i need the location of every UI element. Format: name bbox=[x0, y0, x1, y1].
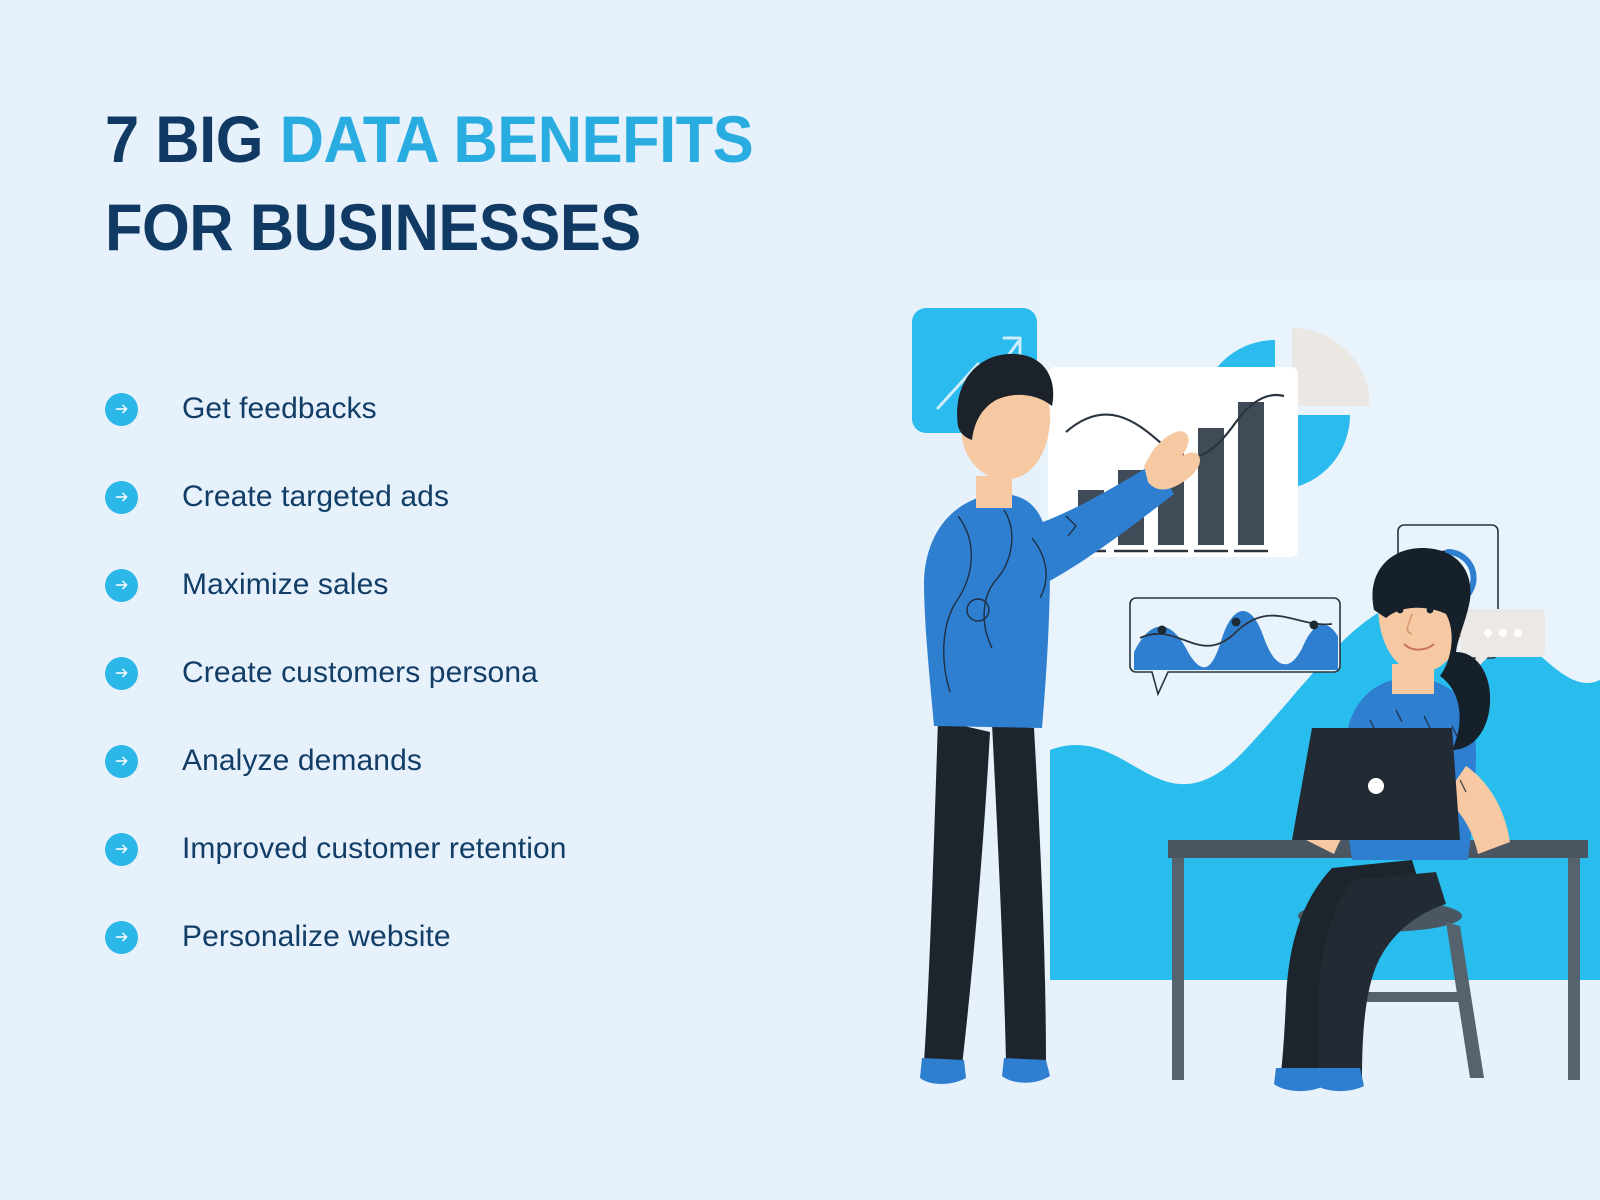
list-item[interactable]: Personalize website bbox=[105, 913, 965, 961]
list-item-label: Personalize website bbox=[182, 920, 451, 954]
list-item[interactable]: Create customers persona bbox=[105, 649, 965, 697]
list-item-label: Get feedbacks bbox=[182, 392, 377, 426]
list-item[interactable]: Get feedbacks bbox=[105, 385, 965, 433]
arrow-right-icon bbox=[105, 481, 138, 514]
typing-dots-icon bbox=[1484, 629, 1522, 637]
man-neck bbox=[976, 476, 1012, 508]
page-title: 7 BIG DATA BENEFITS FOR BUSINESSES bbox=[105, 95, 868, 271]
arrow-right-icon bbox=[105, 569, 138, 602]
list-item[interactable]: Create targeted ads bbox=[105, 473, 965, 521]
list-item-label: Maximize sales bbox=[182, 568, 388, 602]
man-right-leg bbox=[992, 724, 1046, 1064]
laptop-logo bbox=[1368, 778, 1384, 794]
benefits-list: Get feedbacks Create targeted ads Maximi… bbox=[105, 385, 965, 961]
list-item-label: Create customers persona bbox=[182, 656, 538, 690]
man-right-shoe bbox=[1002, 1058, 1050, 1083]
title-part-dark: 7 BIG bbox=[105, 102, 280, 176]
infographic-canvas: 7 BIG DATA BENEFITS FOR BUSINESSES Get f… bbox=[0, 0, 1600, 1200]
list-item[interactable]: Analyze demands bbox=[105, 737, 965, 785]
title-part-accent: DATA BENEFITS bbox=[280, 102, 754, 176]
list-item[interactable]: Maximize sales bbox=[105, 561, 965, 609]
desk-leg-left bbox=[1172, 858, 1184, 1080]
title-line-2: FOR BUSINESSES bbox=[105, 183, 868, 271]
laptop bbox=[1292, 728, 1460, 840]
list-item-label: Improved customer retention bbox=[182, 832, 567, 866]
arrow-right-icon bbox=[105, 393, 138, 426]
list-item-label: Analyze demands bbox=[182, 744, 422, 778]
business-analytics-illustration bbox=[900, 280, 1600, 1100]
list-item-label: Create targeted ads bbox=[182, 480, 449, 514]
arrow-right-icon bbox=[105, 833, 138, 866]
woman-right-shoe bbox=[1314, 1068, 1364, 1091]
arrow-right-icon bbox=[105, 657, 138, 690]
headline-block: 7 BIG DATA BENEFITS FOR BUSINESSES bbox=[105, 95, 925, 271]
arrow-right-icon bbox=[105, 921, 138, 954]
desk-leg-right bbox=[1568, 858, 1580, 1080]
man-left-shoe bbox=[920, 1058, 966, 1084]
list-item[interactable]: Improved customer retention bbox=[105, 825, 965, 873]
man-left-leg bbox=[924, 720, 990, 1066]
arrow-right-icon bbox=[105, 745, 138, 778]
